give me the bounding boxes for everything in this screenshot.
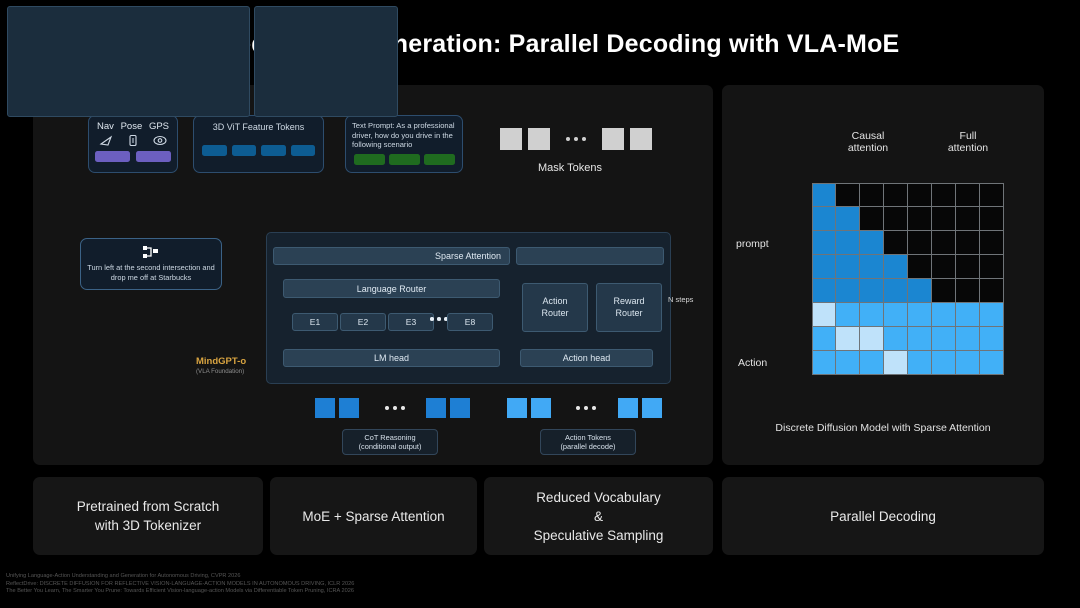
attention-cell: [908, 303, 932, 327]
text-prompt-card[interactable]: Text Prompt: As a professional driver, h…: [345, 115, 463, 173]
action-output-token: [642, 398, 662, 418]
vit-token-chip: [261, 145, 286, 156]
vit-token-chip: [291, 145, 316, 156]
cot-output-token: [426, 398, 446, 418]
attention-cell: [884, 327, 908, 351]
vit-token-chip: [232, 145, 257, 156]
summary1-line2: with 3D Tokenizer: [77, 516, 220, 535]
attention-cell: [812, 207, 836, 231]
vit-token-chip: [202, 145, 227, 156]
nav-token-chip: [136, 151, 171, 162]
attention-cell: [932, 279, 956, 303]
pose-sensor-icon: [126, 134, 140, 147]
attention-matrix-row: [812, 231, 1004, 255]
footnote-1: Unifying Language-Action Understanding a…: [6, 573, 354, 581]
attention-cell: [812, 231, 836, 255]
action-branch-group: [254, 6, 398, 117]
footnote-2: ReflectDrive: DISCRETE DIFFUSION FOR REF…: [6, 581, 354, 589]
attention-matrix-row: [812, 183, 1004, 207]
causal-attention-label: Causal attention: [828, 130, 908, 154]
mask-token-row: [500, 128, 680, 150]
attention-matrix-row: [812, 255, 1004, 279]
attention-cell: [836, 351, 860, 375]
attention-cell: [980, 255, 1004, 279]
mask-tokens-group: Mask Tokens: [500, 128, 680, 174]
nav-token-chips: [95, 151, 171, 162]
attention-cell: [812, 327, 836, 351]
attention-cell: [812, 183, 836, 207]
attention-cell: [836, 231, 860, 255]
attention-matrix-row: [812, 351, 1004, 375]
reward-router-box[interactable]: Reward Router: [596, 283, 662, 332]
attention-cell: [908, 351, 932, 375]
instruction-callout[interactable]: Turn left at the second intersection and…: [80, 238, 222, 290]
attention-cell: [860, 279, 884, 303]
summary-box-parallel-decoding[interactable]: Parallel Decoding: [722, 477, 1044, 555]
vit-feature-tokens-card[interactable]: 3D ViT Feature Tokens: [193, 115, 324, 173]
prompt-rows-label: prompt: [736, 238, 769, 250]
expert-e8[interactable]: E8: [447, 313, 493, 331]
action-output-token: [507, 398, 527, 418]
mask-token: [602, 128, 624, 150]
summary-box-vocabulary[interactable]: Reduced Vocabulary & Speculative Samplin…: [484, 477, 713, 555]
expert-e3[interactable]: E3: [388, 313, 434, 331]
attention-cell: [884, 231, 908, 255]
attention-cell: [932, 207, 956, 231]
nav-header-nav: Nav: [97, 121, 114, 132]
footnote-3: The Better You Learn, The Smarter You Pr…: [6, 588, 354, 596]
attention-cell: [932, 327, 956, 351]
attention-cell: [860, 351, 884, 375]
attention-cell: [884, 207, 908, 231]
action-head-bar[interactable]: Action head: [520, 349, 653, 367]
attention-cell: [860, 207, 884, 231]
vit-card-label: 3D ViT Feature Tokens: [202, 122, 315, 134]
full-attention-line1: Full: [928, 130, 1008, 142]
attention-cell: [932, 303, 956, 327]
nav-header-pose: Pose: [121, 121, 143, 132]
attention-cell: [980, 183, 1004, 207]
prompt-token-chip: [424, 154, 455, 165]
causal-attention-line2: attention: [828, 142, 908, 154]
nav-token-chip: [95, 151, 130, 162]
action-router-line2: Router: [541, 308, 568, 320]
summary1-line1: Pretrained from Scratch: [77, 497, 220, 516]
attention-cell: [836, 279, 860, 303]
attention-cell: [884, 351, 908, 375]
attention-cell: [956, 183, 980, 207]
nav-header-gps: GPS: [149, 121, 169, 132]
attention-cell: [956, 207, 980, 231]
language-branch-group: [7, 6, 250, 117]
nav-pose-gps-card[interactable]: Nav Pose GPS: [88, 115, 178, 173]
lm-head-bar[interactable]: LM head: [283, 349, 500, 367]
prompt-token-chips: [352, 154, 456, 165]
action-output-token: [531, 398, 551, 418]
attention-cell: [908, 231, 932, 255]
language-router-bar[interactable]: Language Router: [283, 279, 500, 298]
cot-output-token: [450, 398, 470, 418]
summary-box-pretrained[interactable]: Pretrained from Scratch with 3D Tokenize…: [33, 477, 263, 555]
cot-tag-line1: CoT Reasoning: [364, 433, 415, 442]
attention-cell: [836, 303, 860, 327]
cot-ellipsis-icon: [385, 406, 405, 410]
attention-cell: [908, 183, 932, 207]
cot-output-token: [339, 398, 359, 418]
gps-eye-icon: [153, 134, 167, 147]
mask-tokens-caption: Mask Tokens: [500, 162, 640, 174]
action-tag-line2: (parallel decode): [560, 442, 615, 451]
attention-matrix-row: [812, 303, 1004, 327]
full-attention-line2: attention: [928, 142, 1008, 154]
attention-cell: [884, 303, 908, 327]
attention-cell: [908, 279, 932, 303]
attention-cell: [884, 279, 908, 303]
mask-token: [500, 128, 522, 150]
attention-cell: [836, 183, 860, 207]
action-rows-label: Action: [738, 357, 767, 369]
cot-output-token: [315, 398, 335, 418]
summary3-line2: &: [534, 507, 664, 526]
attention-cell: [860, 183, 884, 207]
attention-cell: [860, 303, 884, 327]
attention-cell: [980, 351, 1004, 375]
action-tag-line1: Action Tokens: [565, 433, 611, 442]
attention-cell: [932, 255, 956, 279]
reward-router-line2: Router: [613, 308, 644, 320]
attention-matrix[interactable]: [812, 183, 1004, 375]
attention-matrix-row: [812, 207, 1004, 231]
attention-cell: [812, 255, 836, 279]
attention-cell: [812, 279, 836, 303]
reward-router-line1: Reward: [613, 296, 644, 308]
sparse-attention-bar[interactable]: Sparse Attention: [273, 247, 510, 265]
attention-cell: [980, 279, 1004, 303]
attention-cell: [836, 255, 860, 279]
turn-left-route-icon: [142, 245, 160, 260]
mask-token: [528, 128, 550, 150]
n-steps-label: N steps: [668, 295, 693, 304]
attention-cell: [932, 183, 956, 207]
mindgpt-name: MindGPT-o: [196, 356, 270, 367]
summary3-line3: Speculative Sampling: [534, 526, 664, 545]
attention-cell: [908, 207, 932, 231]
attention-cell: [860, 327, 884, 351]
attention-cell: [812, 303, 836, 327]
attention-cell: [836, 207, 860, 231]
action-tokens-tag[interactable]: Action Tokens (parallel decode): [540, 429, 636, 455]
summary3-line1: Reduced Vocabulary: [534, 488, 664, 507]
cot-tag-line2: (conditional output): [359, 442, 422, 451]
attention-cell: [956, 351, 980, 375]
nav-card-icons: [95, 132, 171, 147]
summary-box-moe[interactable]: MoE + Sparse Attention: [270, 477, 477, 555]
slide-root: Unified Action Generation: Parallel Deco…: [0, 0, 1080, 608]
prompt-token-chip: [389, 154, 420, 165]
attention-cell: [908, 327, 932, 351]
attention-cell: [884, 183, 908, 207]
attention-cell: [956, 279, 980, 303]
action-router-line1: Action: [541, 296, 568, 308]
full-attention-label: Full attention: [928, 130, 1008, 154]
action-ellipsis-icon: [576, 406, 596, 410]
sparse-attention-bar-right: [516, 247, 664, 265]
navigation-arrow-icon: [99, 134, 113, 147]
attention-caption: Discrete Diffusion Model with Sparse Att…: [722, 422, 1044, 434]
attention-cell: [956, 231, 980, 255]
mask-token: [630, 128, 652, 150]
attention-cell: [956, 255, 980, 279]
attention-cell: [980, 207, 1004, 231]
attention-cell: [956, 303, 980, 327]
causal-attention-line1: Causal: [828, 130, 908, 142]
vit-token-chips: [202, 145, 315, 156]
attention-cell: [884, 255, 908, 279]
cot-reasoning-tag[interactable]: CoT Reasoning (conditional output): [342, 429, 438, 455]
footnotes: Unifying Language-Action Understanding a…: [6, 573, 354, 596]
attention-cell: [980, 303, 1004, 327]
action-output-token: [618, 398, 638, 418]
expert-e2[interactable]: E2: [340, 313, 386, 331]
attention-cell: [956, 327, 980, 351]
attention-cell: [812, 351, 836, 375]
prompt-token-chip: [354, 154, 385, 165]
mindgpt-brand-label: MindGPT-o (VLA Foundation): [196, 356, 270, 375]
attention-cell: [980, 231, 1004, 255]
attention-cell: [836, 327, 860, 351]
nav-card-headers: Nav Pose GPS: [95, 121, 171, 132]
mask-ellipsis-icon: [566, 137, 586, 141]
attention-matrix-row: [812, 327, 1004, 351]
attention-matrix-row: [812, 279, 1004, 303]
expert-ellipsis-icon: [430, 317, 448, 321]
attention-cell: [932, 231, 956, 255]
attention-cell: [980, 327, 1004, 351]
attention-cell: [932, 351, 956, 375]
instruction-callout-text: Turn left at the second intersection and…: [81, 263, 221, 282]
action-router-box[interactable]: Action Router: [522, 283, 588, 332]
expert-e1[interactable]: E1: [292, 313, 338, 331]
attention-cell: [908, 255, 932, 279]
text-prompt-label: Text Prompt: As a professional driver, h…: [352, 121, 456, 150]
mindgpt-subtitle: (VLA Foundation): [196, 368, 270, 375]
attention-cell: [860, 231, 884, 255]
attention-cell: [860, 255, 884, 279]
